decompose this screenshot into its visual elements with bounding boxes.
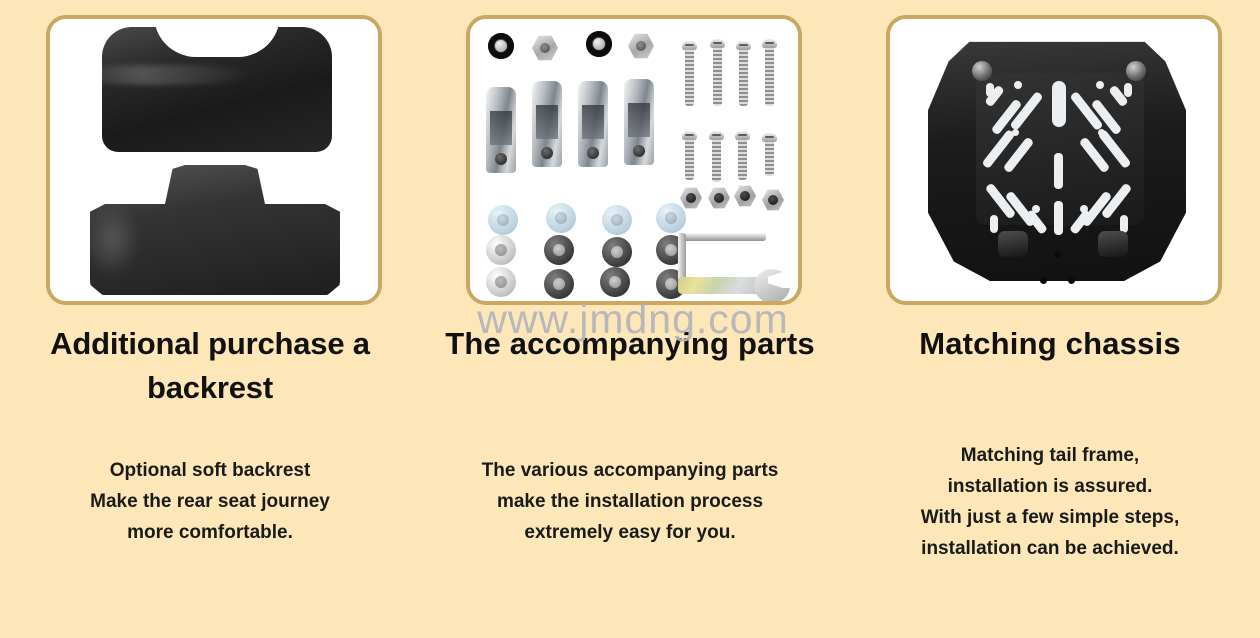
long-bolt [710, 39, 725, 106]
plate-slot [1054, 201, 1063, 235]
nylock-nut [586, 31, 612, 57]
column-heading: Additional purchase a backrest [0, 322, 420, 410]
flat-washer [486, 235, 516, 265]
cushion-highlight [66, 65, 256, 85]
body-line: installation is assured. [840, 471, 1260, 502]
product-feature-board: Additional purchase a backrest Optional … [0, 0, 1260, 638]
long-bolt [682, 41, 697, 106]
hex-nut [532, 35, 558, 61]
lock-nut [762, 189, 784, 211]
short-bolt [735, 131, 750, 180]
mounting-bracket [532, 81, 562, 167]
plate-hole [1054, 251, 1061, 258]
long-bolt [736, 41, 751, 106]
body-line: extremely easy for you. [420, 517, 840, 548]
rubber-bumper [1098, 231, 1128, 257]
flat-washer [486, 267, 516, 297]
body-line: more comfortable. [0, 517, 420, 548]
body-line: The various accompanying parts [420, 455, 840, 486]
blue-washer [488, 205, 518, 235]
plate-slot [1052, 81, 1066, 127]
rubber-washer [602, 237, 632, 267]
feature-column-backrest: Additional purchase a backrest Optional … [0, 0, 420, 638]
plate-hole [1096, 81, 1104, 89]
body-line: Make the rear seat journey [0, 486, 420, 517]
backrest-cushion-and-backplate-photo [50, 19, 378, 301]
plate-hole [1040, 277, 1047, 284]
backplate-highlight [84, 201, 140, 279]
column-heading: Matching chassis [840, 322, 1260, 366]
hex-nut [628, 33, 654, 59]
rubber-washer [600, 267, 630, 297]
plate-hole [1014, 81, 1022, 89]
mounting-bracket [578, 81, 608, 167]
body-line: Optional soft backrest [0, 455, 420, 486]
matching-chassis-mounting-plate-photo [890, 19, 1218, 301]
plate-slot [990, 215, 998, 233]
column-body-text: Matching tail frame, installation is ass… [840, 440, 1260, 564]
long-bolt [762, 39, 777, 106]
plate-hole [1068, 277, 1075, 284]
mounting-bracket [486, 87, 516, 173]
mounting-bracket [624, 79, 654, 165]
blue-washer [546, 203, 576, 233]
plate-slot [986, 83, 994, 97]
hardware-accessory-parts-photo [470, 19, 798, 301]
plate-hole [1098, 129, 1105, 136]
rubber-washer [544, 269, 574, 299]
chassis-bolt-cap [1126, 61, 1146, 81]
rubber-bumper [998, 231, 1028, 257]
column-body-text: Optional soft backrest Make the rear sea… [0, 455, 420, 548]
blue-washer [656, 203, 686, 233]
column-body-text: The various accompanying parts make the … [420, 455, 840, 548]
product-photo-card-parts [466, 15, 802, 305]
short-bolt [682, 131, 697, 180]
blue-washer [602, 205, 632, 235]
plate-slot [1124, 83, 1132, 97]
body-line: make the installation process [420, 486, 840, 517]
nylock-nut [488, 33, 514, 59]
rubber-washer [544, 235, 574, 265]
plate-hole [1032, 205, 1040, 213]
plate-hole [1080, 205, 1088, 213]
plate-hole [1012, 129, 1019, 136]
lock-nut [680, 187, 702, 209]
backrest-cushion-part [102, 27, 332, 152]
plate-slot [1054, 153, 1063, 189]
body-line: With just a few simple steps, [840, 502, 1260, 533]
lock-nut [708, 187, 730, 209]
body-line: installation can be achieved. [840, 533, 1260, 564]
short-bolt [709, 131, 724, 182]
short-bolt [762, 133, 777, 176]
column-heading: The accompanying parts [420, 322, 840, 366]
product-photo-card-backrest [46, 15, 382, 305]
body-line: Matching tail frame, [840, 440, 1260, 471]
feature-column-chassis: Matching chassis Matching tail frame, in… [840, 0, 1260, 638]
product-photo-card-chassis [886, 15, 1222, 305]
lock-nut [734, 185, 756, 207]
chassis-bolt-cap [972, 61, 992, 81]
feature-column-parts: The accompanying parts The various accom… [420, 0, 840, 638]
